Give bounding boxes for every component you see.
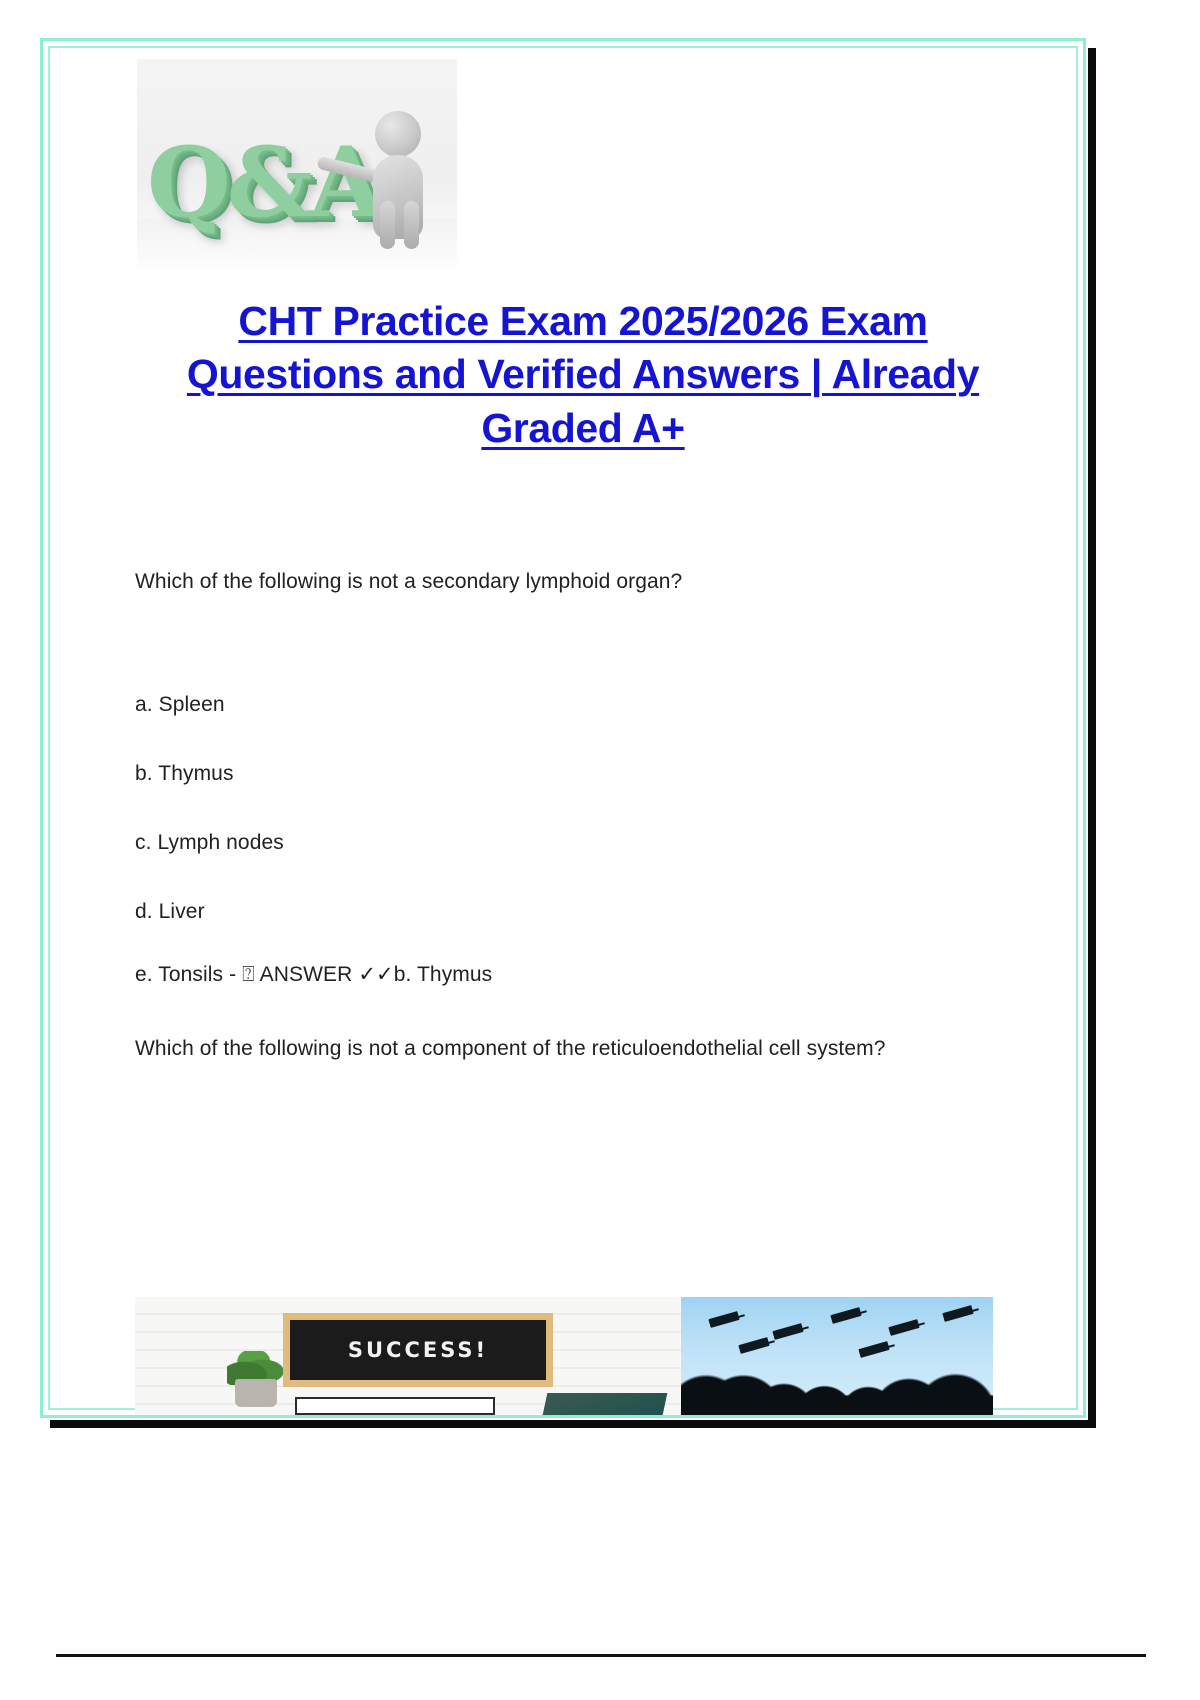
option-e-label: e. Tonsils - <box>135 963 242 986</box>
graduation-caps-image <box>681 1297 993 1415</box>
option-c: c. Lymph nodes <box>135 832 1031 853</box>
option-e-answer-line: e. Tonsils - ⍰ ANSWER ✓✓b. Thymus <box>135 964 1031 985</box>
page-sheet: Q&A CHT Practice Exam 2025/2026 Exam Que… <box>40 38 1086 1418</box>
question-2-prompt: Which of the following is not a componen… <box>135 1027 965 1070</box>
grad-cap-icon <box>858 1341 889 1358</box>
page-content: Q&A CHT Practice Exam 2025/2026 Exam Que… <box>43 41 1083 1415</box>
grad-cap-icon <box>772 1323 803 1340</box>
desk-paper <box>295 1397 495 1415</box>
grad-cap-icon <box>888 1319 919 1336</box>
question-1-prompt: Which of the following is not a secondar… <box>135 563 1031 602</box>
document-page: Q&A CHT Practice Exam 2025/2026 Exam Que… <box>40 38 1086 1418</box>
grad-cap-icon <box>708 1311 739 1328</box>
chalkboard-text: SUCCESS! <box>348 1338 488 1362</box>
answer-value: b. Thymus <box>394 963 493 986</box>
grad-cap-icon <box>738 1337 769 1354</box>
question-1-options: a. Spleen b. Thymus c. Lymph nodes d. Li… <box>135 694 1031 922</box>
graduates-silhouette <box>681 1371 993 1415</box>
figure-head <box>375 111 421 157</box>
check-marks-icon: ✓✓ <box>358 962 393 986</box>
figure-leg-right <box>404 201 419 249</box>
grad-cap-icon <box>942 1305 973 1322</box>
grad-cap-icon <box>830 1307 861 1324</box>
option-b: b. Thymus <box>135 763 1031 784</box>
footer-rule <box>56 1654 1146 1657</box>
title-line-1: CHT Practice Exam 2025/2026 Exam <box>238 298 927 344</box>
missing-glyph-icon: ⍰ <box>242 964 255 985</box>
desk-calculator <box>543 1393 668 1415</box>
plant-pot <box>235 1379 277 1407</box>
figure-leg-left <box>380 201 395 249</box>
chalkboard: SUCCESS! <box>283 1313 553 1387</box>
title-line-2: Questions and Verified Answers | <box>187 351 822 397</box>
option-d: d. Liver <box>135 901 1031 922</box>
qa-logo-image: Q&A <box>137 59 457 277</box>
question-options-spacer <box>135 602 1031 694</box>
title-body-spacer <box>135 455 1031 563</box>
option-a: a. Spleen <box>135 694 1031 715</box>
success-chalkboard-image: SUCCESS! <box>135 1297 681 1415</box>
answer-keyword: ANSWER <box>255 963 358 986</box>
bottom-banner-row: SUCCESS! <box>135 1297 993 1415</box>
page-title: CHT Practice Exam 2025/2026 Exam Questio… <box>135 295 1031 455</box>
qa-letters-text: Q&A <box>147 135 380 231</box>
